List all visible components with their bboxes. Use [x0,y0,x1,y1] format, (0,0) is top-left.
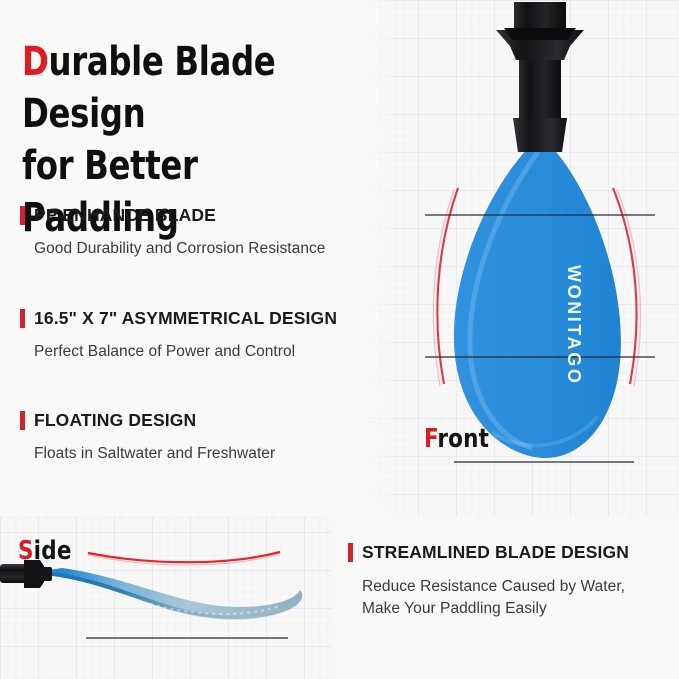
feature-heading: 16.5" X 7" ASYMMETRICAL DESIGN [20,308,400,329]
shaft-top [514,2,566,32]
feature-item-floating-design: FLOATING DESIGN Floats in Saltwater and … [20,410,400,465]
front-view-label: Front [424,424,489,454]
side-label-rest: ide [34,536,72,566]
side-label-drop-cap: S [18,536,34,566]
feature-heading: STREAMLINED BLADE DESIGN [348,542,678,563]
paddle-blade-shape [454,145,621,458]
collar-shadow [504,28,576,40]
feature-subtitle: Perfect Balance of Power and Control [34,341,400,363]
feature-item-streamlined-blade-design: STREAMLINED BLADE DESIGN Reduce Resistan… [348,542,678,620]
side-ferrule-neck [40,567,52,581]
ferrule-band [513,118,567,152]
red-bullet-bar-icon [20,206,25,225]
feature-title: FLOATING DESIGN [34,410,196,431]
side-view-label: Side [18,536,72,566]
feature-heading: FLOATING DESIGN [20,410,400,431]
red-bullet-bar-icon [20,309,25,328]
feature-title: STREAMLINED BLADE DESIGN [362,542,629,563]
feature-subtitle-line-2: Make Your Paddling Easily [362,598,678,620]
feature-subtitle: Floats in Saltwater and Freshwater [34,443,400,465]
red-bullet-bar-icon [20,411,25,430]
product-infographic: Durable Blade Design for Better Paddling… [0,0,679,679]
feature-item-asymmetrical-design: 16.5" X 7" ASYMMETRICAL DESIGN Perfect B… [20,308,400,363]
page-title-line-1: Durable Blade Design [22,36,355,140]
feature-title: 16.5" X 7" ASYMMETRICAL DESIGN [34,308,337,329]
red-reference-arc-echo [88,554,280,565]
red-bullet-bar-icon [348,543,353,562]
brand-text: WONITAGO [564,265,584,385]
feature-subtitle: Reduce Resistance Caused by Water, Make … [362,576,678,620]
front-label-drop-cap: F [424,424,437,454]
feature-title: PP ENHANCE BLADE [34,205,216,226]
page-title-line-1-rest: urable Blade Design [22,39,275,137]
feature-item-pp-enhance-blade: PP ENHANCE BLADE Good Durability and Cor… [20,205,400,260]
page-title-drop-cap: D [22,39,49,85]
feature-subtitle-line-1: Reduce Resistance Caused by Water, [362,576,678,598]
feature-subtitle: Good Durability and Corrosion Resistance [34,238,400,260]
front-label-rest: ront [437,424,489,454]
feature-heading: PP ENHANCE BLADE [20,205,400,226]
brand-label-on-blade: WONITAGO [563,265,584,385]
